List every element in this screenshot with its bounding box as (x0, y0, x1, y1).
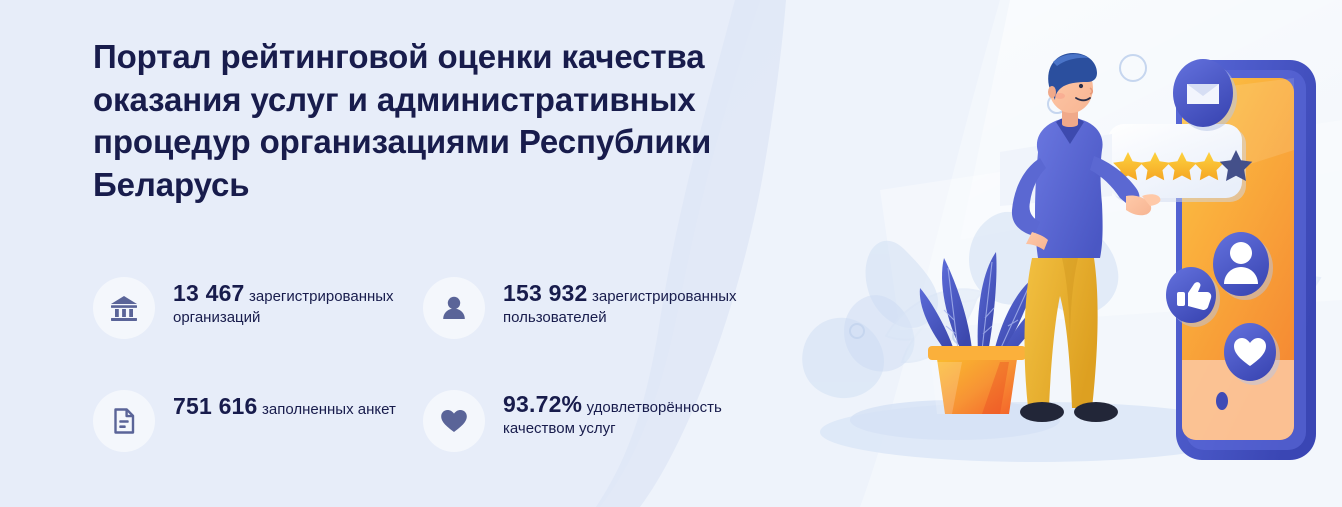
user-icon (439, 293, 469, 323)
bank-icon (109, 293, 139, 323)
heart-icon (439, 406, 469, 436)
hero-content: Портал рейтинговой оценки качества оказа… (93, 36, 833, 206)
stat-completed-forms: 751 616 заполненных анкет (93, 390, 423, 452)
stat-value: 751 616 (173, 393, 258, 419)
stat-label: заполненных анкет (262, 401, 396, 418)
hero-banner: Портал рейтинговой оценки качества оказа… (0, 0, 1342, 507)
stat-value: 153 932 (503, 280, 588, 306)
stat-value: 13 467 (173, 280, 245, 306)
stats-group: 13 467 зарегистрированных организаций 15… (93, 277, 793, 452)
page-title: Портал рейтинговой оценки качества оказа… (93, 36, 793, 206)
stat-satisfaction: 93.72% удовлетворённость качеством услуг (423, 390, 753, 452)
stat-value: 93.72% (503, 391, 582, 417)
heart-icon-circle (423, 390, 485, 452)
stat-registered-organizations: 13 467 зарегистрированных организаций (93, 277, 423, 390)
bank-icon-circle (93, 277, 155, 339)
user-icon-circle (423, 277, 485, 339)
document-icon (109, 406, 139, 436)
stat-registered-users: 153 932 зарегистрированных пользователей (423, 277, 753, 390)
document-icon-circle (93, 390, 155, 452)
